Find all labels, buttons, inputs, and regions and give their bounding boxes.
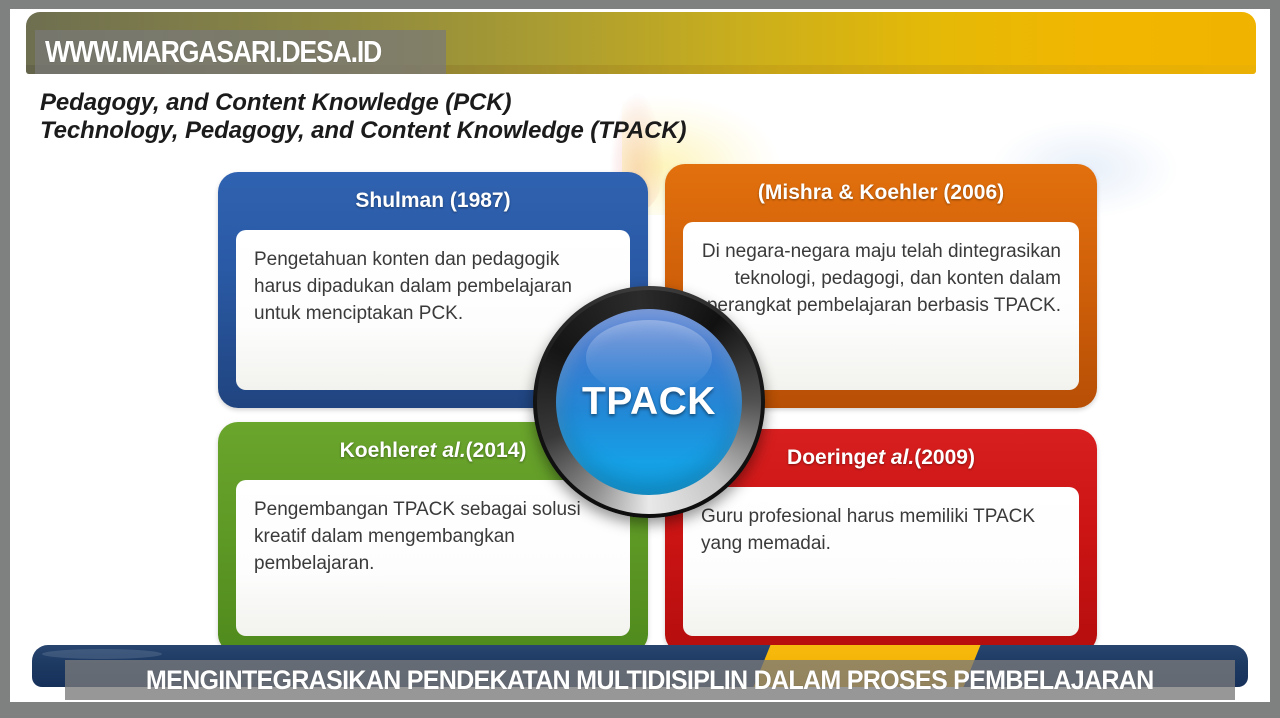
- card-doering-title-italic: et al.: [866, 446, 914, 470]
- card-koehler-title-pre: Koehler: [340, 439, 418, 463]
- card-koehler-title-post: (2014): [466, 439, 527, 463]
- tpack-center-node[interactable]: TPACK: [533, 286, 765, 518]
- caption-watermark: MENGINTEGRASIKAN PENDEKATAN MULTIDISIPLI…: [65, 660, 1235, 700]
- caption-watermark-text: MENGINTEGRASIKAN PENDEKATAN MULTIDISIPLI…: [146, 665, 1154, 696]
- card-mishra-koehler-title: (Mishra & Koehler (2006): [665, 164, 1097, 222]
- tpack-center-label: TPACK: [582, 380, 716, 424]
- card-koehler-body: Pengembangan TPACK sebagai solusi kreati…: [236, 480, 630, 636]
- card-koehler-title-italic: et al.: [418, 439, 466, 463]
- card-doering-body: Guru profesional harus memiliki TPACK ya…: [683, 487, 1079, 636]
- site-watermark: WWW.MARGASARI.DESA.ID: [35, 30, 446, 74]
- site-watermark-text: WWW.MARGASARI.DESA.ID: [45, 34, 381, 70]
- card-doering-title-pre: Doering: [787, 446, 866, 470]
- headline-line-1: Pedagogy, and Content Knowledge (PCK): [40, 89, 686, 117]
- footer-gloss: [42, 649, 162, 659]
- headline-line-2: Technology, Pedagogy, and Content Knowle…: [40, 117, 686, 145]
- slide-canvas: WWW.MARGASARI.DESA.ID Pedagogy, and Cont…: [10, 9, 1270, 702]
- outer-frame: WWW.MARGASARI.DESA.ID Pedagogy, and Cont…: [0, 0, 1280, 718]
- tpack-center-sphere: TPACK: [556, 309, 742, 495]
- card-mishra-koehler-title-pre: (Mishra & Koehler (2006): [758, 181, 1004, 205]
- headline: Pedagogy, and Content Knowledge (PCK) Te…: [40, 89, 686, 145]
- card-shulman-title-pre: Shulman (1987): [355, 189, 510, 213]
- card-shulman-title: Shulman (1987): [218, 172, 648, 230]
- card-doering-title-post: (2009): [914, 446, 975, 470]
